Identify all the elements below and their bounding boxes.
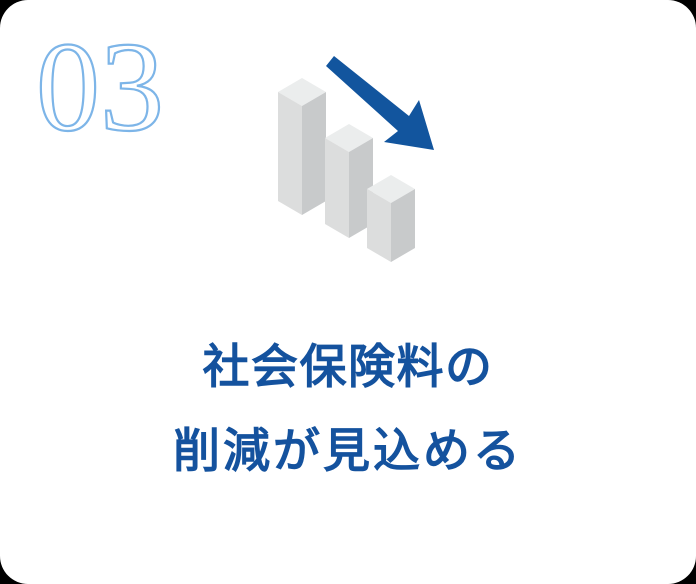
bar-2-icon xyxy=(325,124,373,238)
social-insurance-benefit-card: 03 xyxy=(0,0,696,584)
headline: 社会保険料の 削減が見込める xyxy=(0,326,696,494)
declining-bar-chart-icon xyxy=(262,52,442,272)
bar-3-icon xyxy=(367,175,415,262)
headline-line-2: 削減が見込める xyxy=(0,410,696,494)
step-number-text: 03 xyxy=(36,16,164,152)
bar-1-icon xyxy=(278,78,326,215)
step-number: 03 xyxy=(36,12,206,152)
headline-line-1: 社会保険料の xyxy=(0,326,696,410)
